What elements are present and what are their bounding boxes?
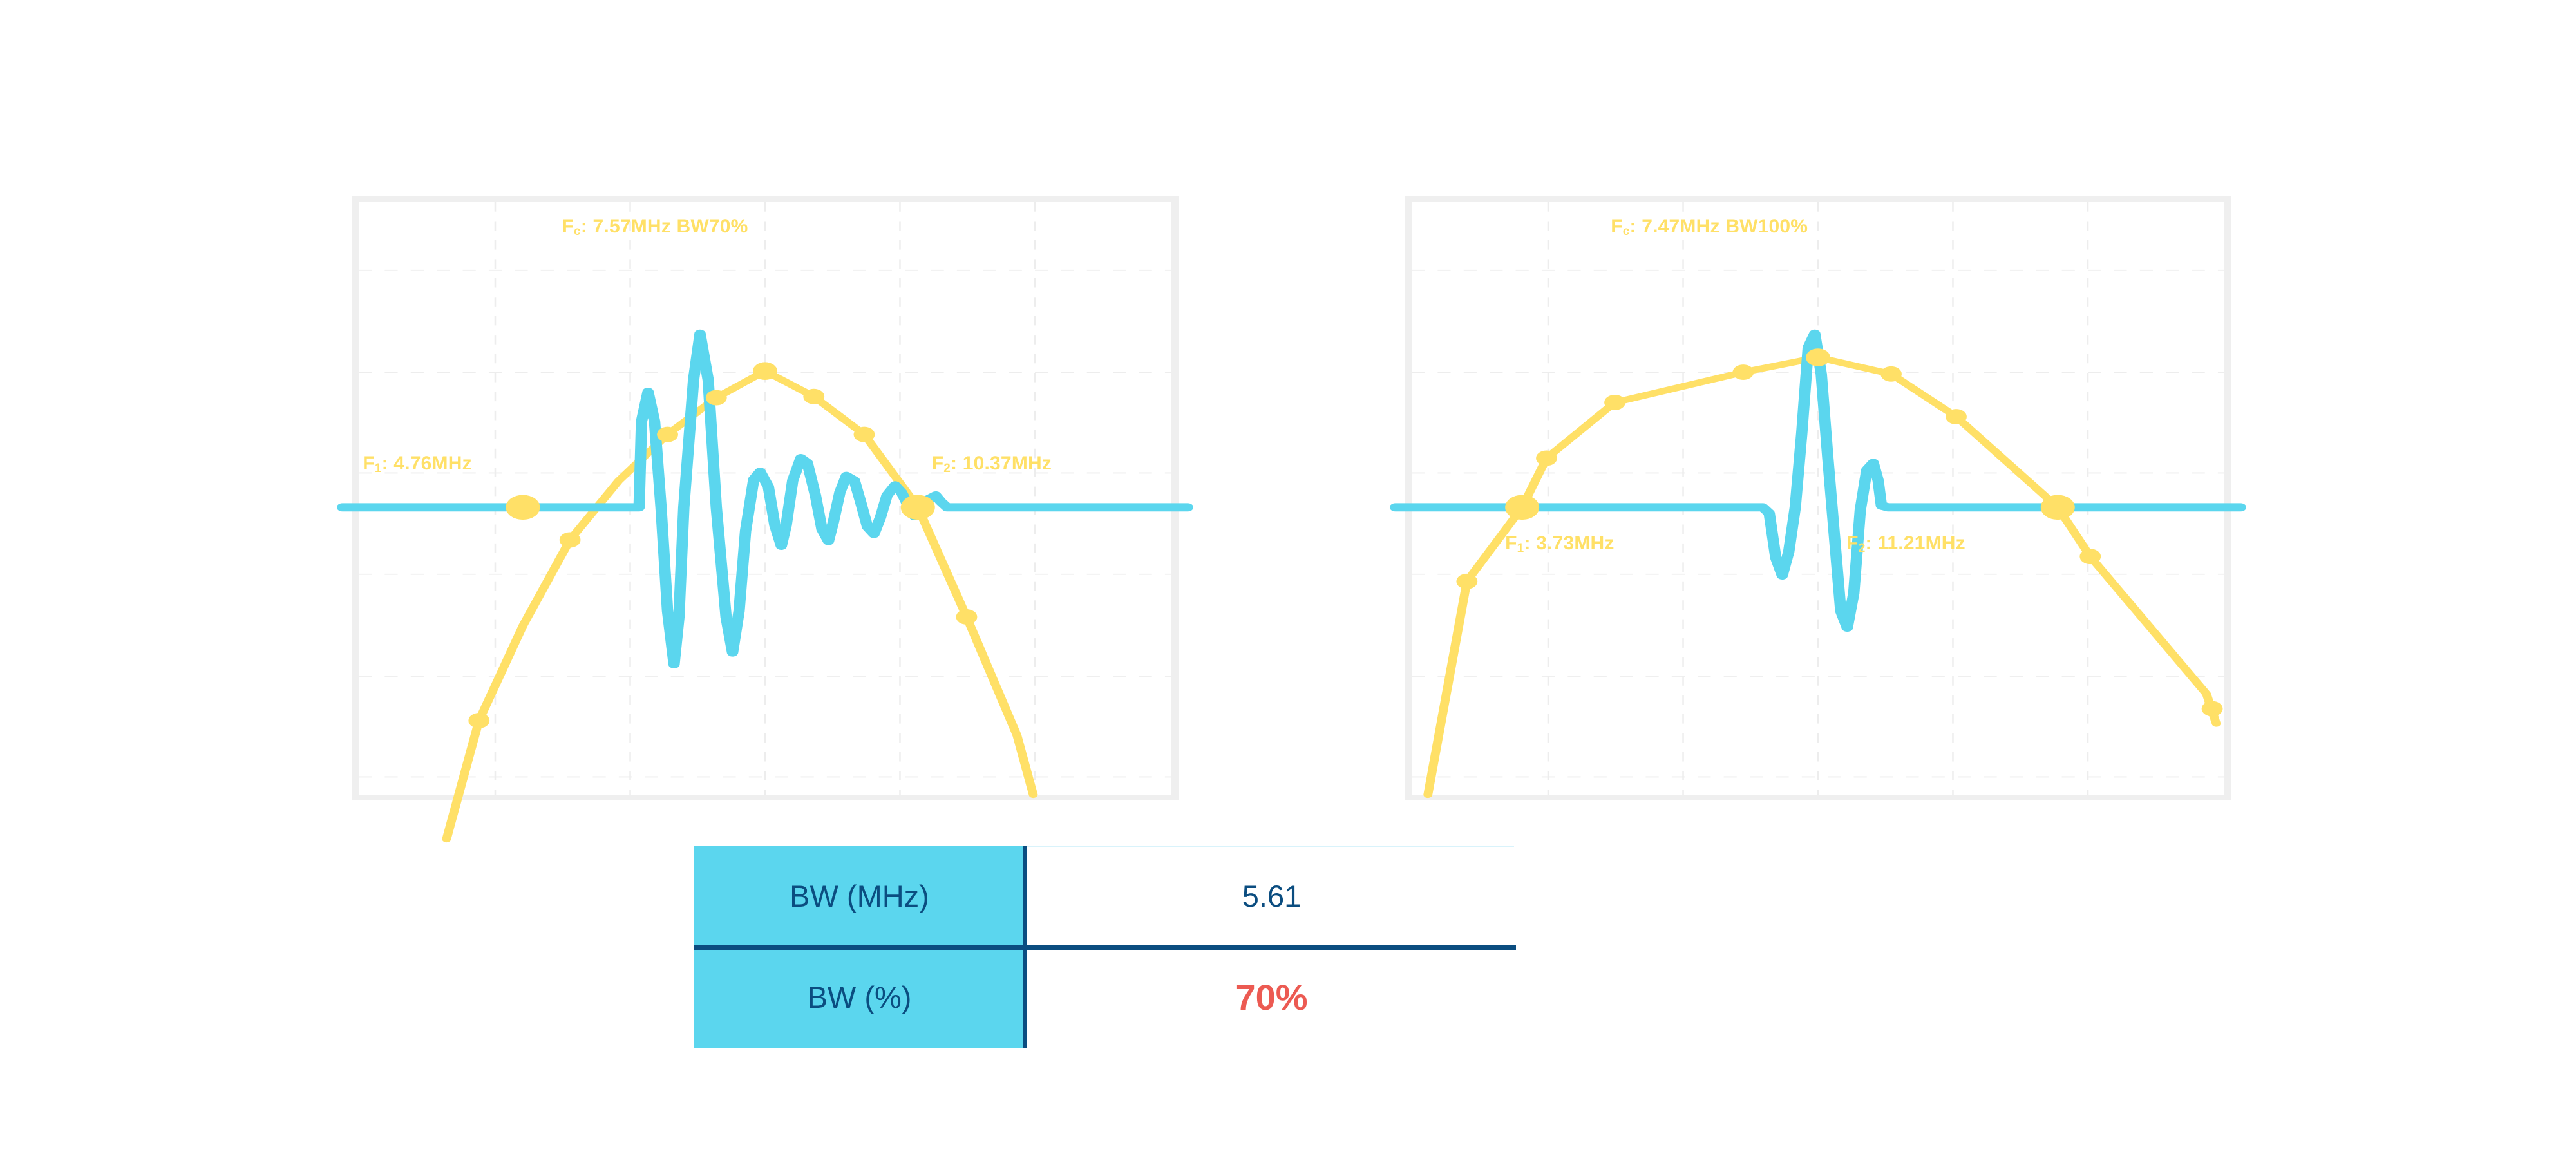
pulse-waveform-left (343, 334, 1188, 664)
chart-block-right: Fc: 7.47MHz BW100% F1: 3.73MHz F2: 11.21… (1388, 0, 2251, 1154)
bw-mhz-label: BW (MHz) (694, 846, 1025, 947)
annotation-f1-left: F1: 4.76MHz (363, 454, 471, 473)
table-column-divider (1023, 846, 1027, 1048)
plot-area-left: Fc: 7.57MHz BW70% F1: 4.76MHz F2: 10.37M… (359, 202, 1171, 795)
plot-frame-left: Fc: 7.57MHz BW70% F1: 4.76MHz F2: 10.37M… (352, 196, 1179, 800)
annotation-fc-right: Fc: 7.47MHz BW100% (1611, 217, 1808, 236)
annotation-f1-right: F1: 3.73MHz (1505, 534, 1614, 553)
plot-area-right: Fc: 7.47MHz BW100% F1: 3.73MHz F2: 11.21… (1412, 202, 2224, 795)
annotation-fc-left: Fc: 7.57MHz BW70% (562, 217, 748, 236)
bw-pct-label: BW (%) (694, 947, 1025, 1048)
crossing-marker-f1-right (1505, 495, 1539, 520)
annotation-f2-left: F2: 10.37MHz (932, 454, 1052, 473)
crossing-marker-f1-left (506, 495, 540, 520)
chart-block-left: Fc: 7.57MHz BW70% F1: 4.76MHz F2: 10.37M… (335, 0, 1198, 1154)
plot-frame-right: Fc: 7.47MHz BW100% F1: 3.73MHz F2: 11.21… (1405, 196, 2231, 800)
plot-svg-left (359, 202, 1171, 795)
crossing-marker-f2-right (2041, 495, 2075, 520)
plot-svg-right (1412, 202, 2224, 795)
figure-root: Fc: 7.57MHz BW70% F1: 4.76MHz F2: 10.37M… (0, 0, 2576, 1154)
annotation-f2-right: F2: 11.21MHz (1846, 534, 1965, 553)
crossing-marker-f2-left (901, 495, 935, 520)
